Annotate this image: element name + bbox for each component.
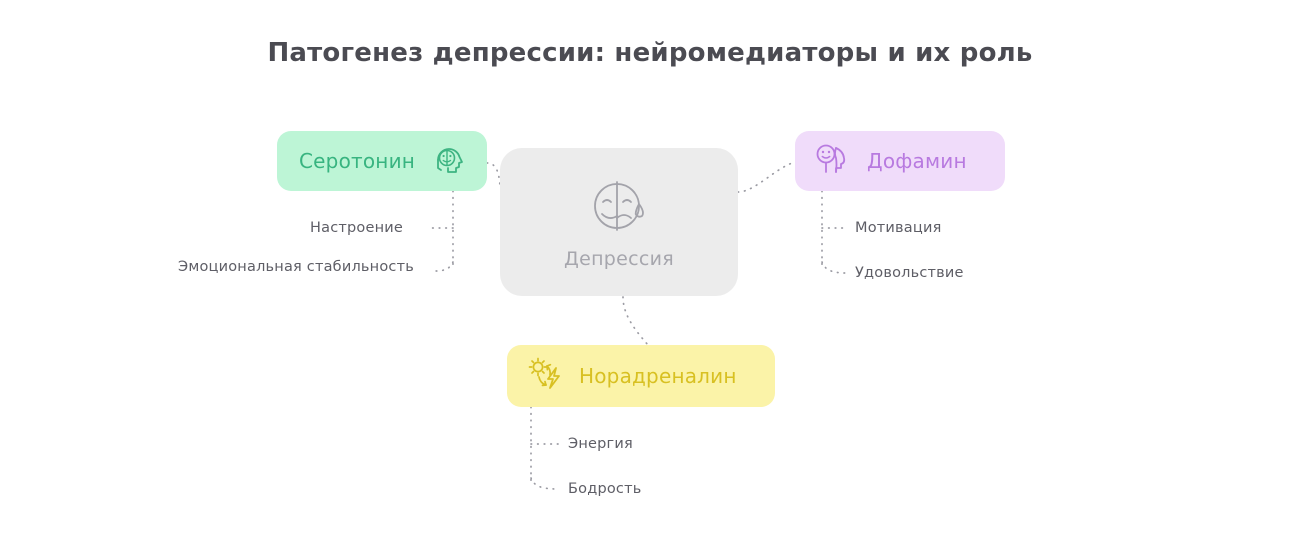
node-serotonin[interactable]: Серотонин [277, 131, 487, 191]
node-noradrenaline[interactable]: Норадреналин [507, 345, 775, 407]
head-brain-face-icon [431, 143, 467, 179]
connector-dopamine-to-pleasure [822, 262, 846, 273]
sun-lightning-icon [525, 355, 567, 397]
leaf-dopamine-pleasure[interactable]: Удовольствие [855, 265, 964, 281]
connector-serotonin-to-center [487, 163, 500, 186]
sad-face-tear-icon [587, 174, 651, 238]
leaf-serotonin-stability[interactable]: Эмоциональная стабильность [178, 259, 414, 275]
leaf-serotonin-mood[interactable]: Настроение [310, 220, 403, 236]
node-dopamine[interactable]: Дофамин [795, 131, 1005, 191]
node-noradrenaline-label: Норадреналин [579, 364, 737, 388]
page-title: Патогенез депрессии: нейромедиаторы и их… [0, 38, 1300, 68]
head-smiley-icon [813, 141, 853, 181]
leaf-dopamine-motivation[interactable]: Мотивация [855, 220, 942, 236]
node-depression-label: Депрессия [564, 248, 674, 270]
connector-center-to-dopamine [738, 162, 795, 192]
connector-serotonin-to-stability [435, 262, 453, 271]
leaf-noradrenaline-vigor[interactable]: Бодрость [568, 481, 641, 497]
node-depression[interactable]: Депрессия [500, 148, 738, 296]
node-dopamine-label: Дофамин [867, 149, 967, 173]
connector-center-to-noradrenaline [623, 297, 648, 345]
diagram-canvas: Патогенез депрессии: нейромедиаторы и их… [0, 0, 1300, 546]
leaf-noradrenaline-energy[interactable]: Энергия [568, 436, 633, 452]
connector-noradrenaline-to-vigor [531, 478, 558, 489]
node-serotonin-label: Серотонин [299, 149, 415, 173]
